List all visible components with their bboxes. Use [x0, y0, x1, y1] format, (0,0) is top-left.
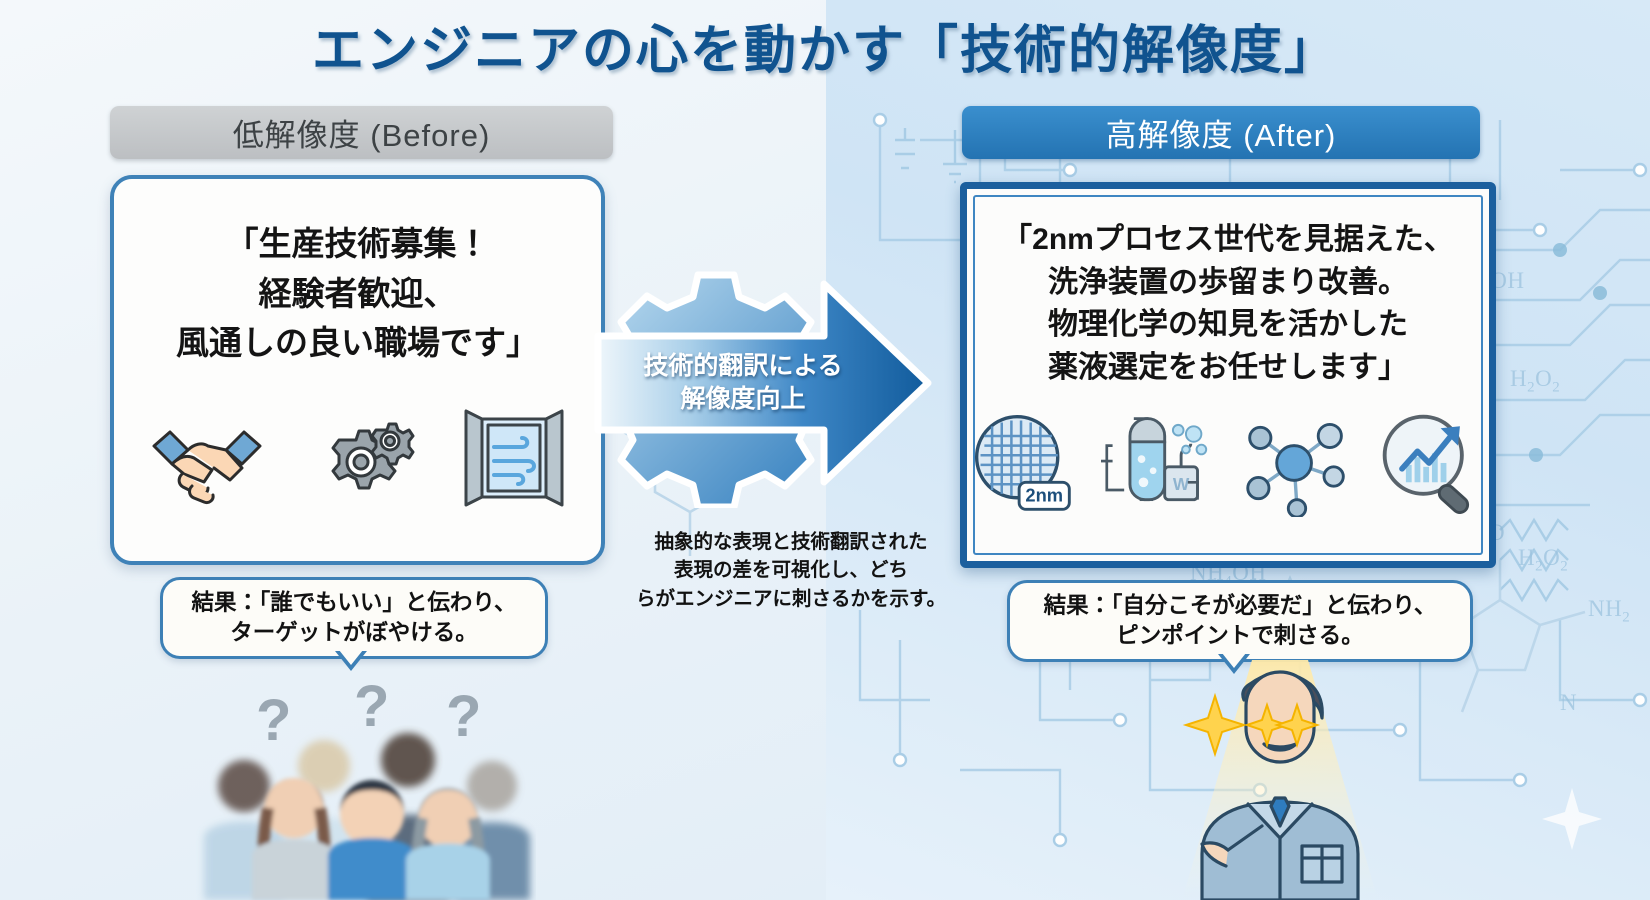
chem-label-h2o2-1: H2O2 [1510, 366, 1560, 397]
chem-label-h2o2-2: H2O2 [1518, 545, 1568, 576]
header-pill-before: 低解像度 (Before) [110, 106, 613, 159]
decorative-sparkle-icon [1542, 786, 1602, 852]
before-quote-line-3: 風通しの良い職場です」 [114, 318, 601, 368]
header-pill-after: 高解像度 (After) [962, 106, 1480, 159]
before-quote-line-1: 「生産技術募集！ [114, 219, 601, 269]
result-bubble-before: 結果：「誰でもいい」と伝わり、 ターゲットがぼやける。 [160, 577, 548, 659]
header-pill-after-label: 高解像度 (After) [1106, 110, 1337, 155]
question-mark-2: ? [354, 674, 389, 739]
magnifier-chart-icon [1375, 407, 1489, 517]
open-window-breeze-icon [460, 409, 568, 509]
question-mark-1: ? [256, 688, 291, 753]
equipment-label: W [1173, 474, 1190, 494]
chem-label-nh2: NH2 [1588, 596, 1630, 627]
arrow-gear-shape-icon [588, 258, 968, 508]
result-before-line-2: ターゲットがぼやける。 [192, 618, 517, 648]
molecule-icon [1241, 409, 1349, 517]
center-caption-line-1: 抽象的な表現と技術翻訳された [620, 528, 962, 556]
cleaning-equipment-icon: W [1101, 409, 1215, 517]
center-caption-line-3: らがエンジニアに刺さるかを示す。 [620, 585, 962, 613]
infographic-canvas: NH4OH HF H2O2 HF H2O2 OH NH4OH NH2 N O エ… [0, 0, 1650, 900]
result-after-line-2: ピンポイントで刺さる。 [1044, 621, 1437, 651]
panel-after: 「2nmプロセス世代を見据えた、 洗浄装置の歩留まり改善。 物理化学の知見を活か… [960, 182, 1496, 568]
header-pill-before-label: 低解像度 (Before) [233, 110, 491, 155]
page-title: エンジニアの心を動かす「技術的解像度」 [0, 8, 1650, 83]
wafer-badge-label: 2nm [1025, 485, 1063, 506]
before-quote-line-2: 経験者歓迎、 [114, 269, 601, 319]
center-caption-line-2: 表現の差を可視化し、どち [620, 556, 962, 584]
silicon-wafer-icon: 2nm [967, 409, 1075, 517]
before-quote: 「生産技術募集！ 経験者歓迎、 風通しの良い職場です」 [114, 219, 601, 368]
after-quote-line-1: 「2nmプロセス世代を見据えた、 [977, 219, 1479, 262]
translation-arrow: 技術的翻訳による 解像度向上 [588, 258, 968, 508]
gears-icon [308, 414, 418, 509]
before-icon-row [114, 409, 601, 509]
center-caption: 抽象的な表現と技術翻訳された 表現の差を可視化し、どち らがエンジニアに刺さるか… [620, 528, 962, 613]
after-icon-row: 2nm W [967, 407, 1489, 517]
after-quote-line-2: 洗浄装置の歩留まり改善。 [977, 262, 1479, 305]
question-mark-3: ? [446, 684, 481, 749]
panel-before: 「生産技術募集！ 経験者歓迎、 風通しの良い職場です」 [110, 175, 605, 565]
after-quote: 「2nmプロセス世代を見据えた、 洗浄装置の歩留まり改善。 物理化学の知見を活か… [977, 219, 1479, 389]
handshake-icon [148, 414, 266, 509]
blurred-crowd-illustration: ? ? ? [196, 668, 536, 900]
engineer-spotlight-illustration [1130, 660, 1430, 900]
result-bubble-after: 結果：「自分こそが必要だ」と伝わり、 ピンポイントで刺さる。 [1007, 580, 1473, 662]
result-after-line-1: 結果：「自分こそが必要だ」と伝わり、 [1044, 591, 1437, 621]
after-quote-line-3: 物理化学の知見を活かした [977, 304, 1479, 347]
result-before-line-1: 結果：「誰でもいい」と伝わり、 [192, 588, 517, 618]
chem-label-n: N [1560, 690, 1577, 716]
after-quote-line-4: 薬液選定をお任せします」 [977, 347, 1479, 390]
